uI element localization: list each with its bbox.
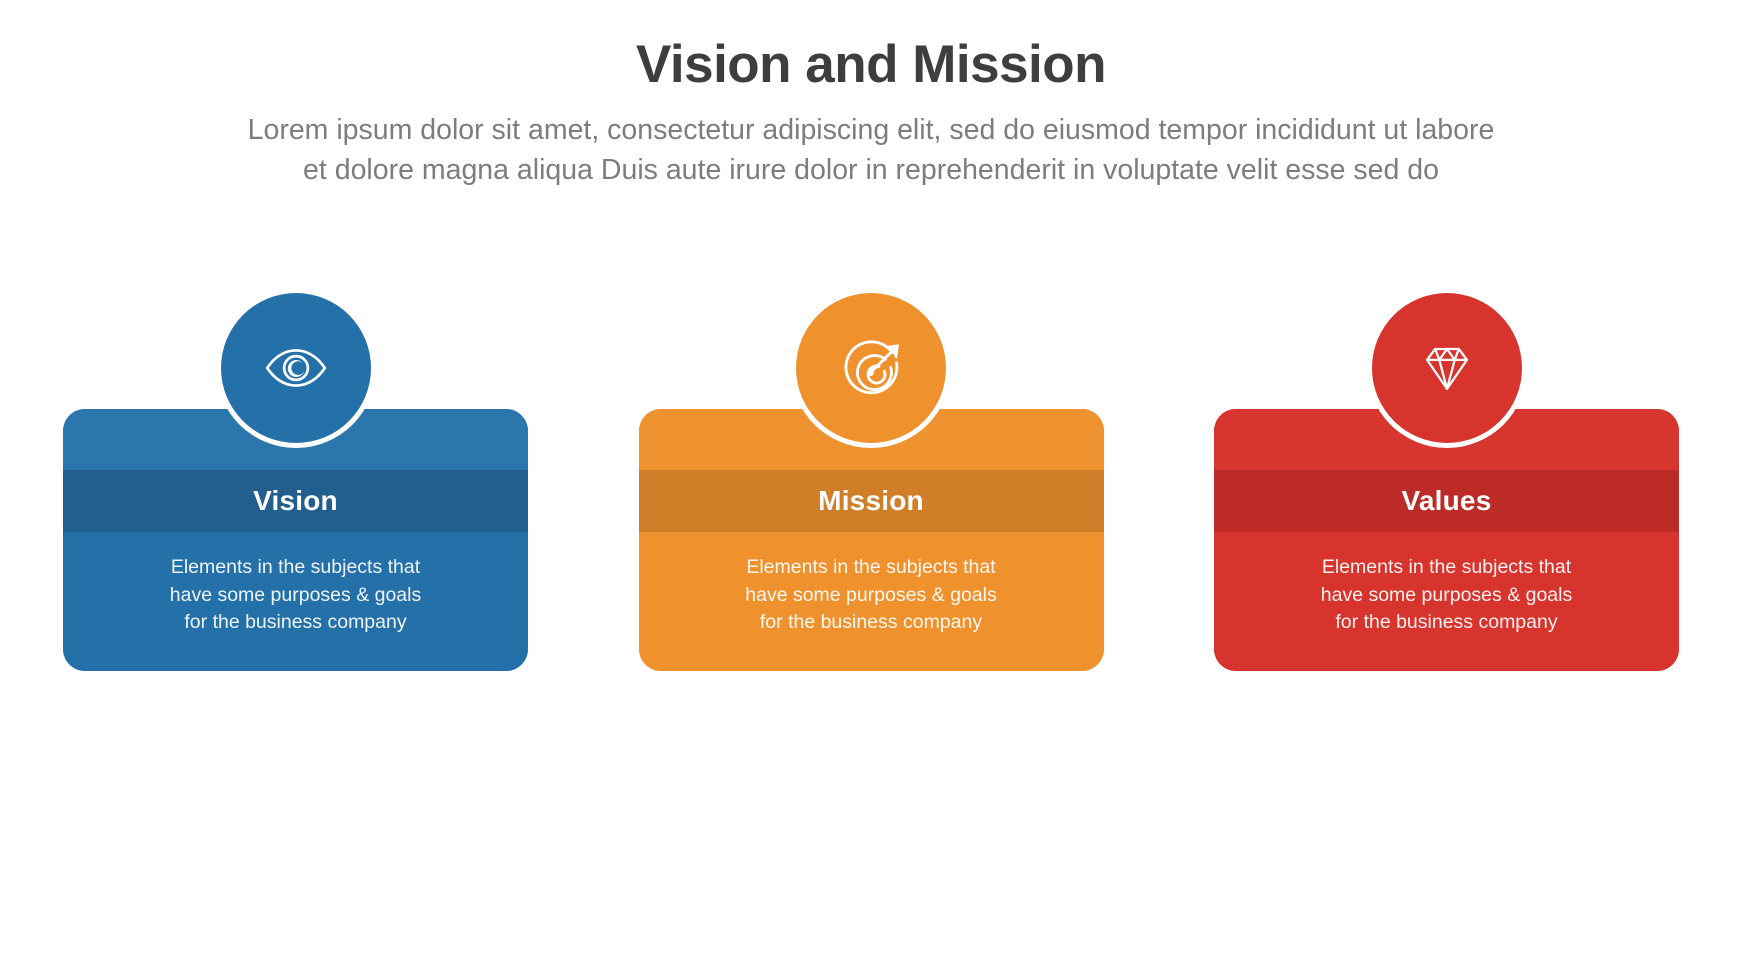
page-title: Vision and Mission: [0, 0, 1742, 94]
card-vision-title-band: Vision: [63, 470, 528, 532]
card-mission-body: Elements in the subjects that have some …: [639, 554, 1104, 637]
card-mission-badge[interactable]: [796, 293, 946, 443]
card-vision-badge[interactable]: [221, 293, 371, 443]
card-vision-body-line-3: for the business company: [89, 609, 502, 637]
card-values-body-line-1: Elements in the subjects that: [1240, 554, 1653, 582]
card-vision-body-line-1: Elements in the subjects that: [89, 554, 502, 582]
card-values-badge[interactable]: [1372, 293, 1522, 443]
page-subtitle: Lorem ipsum dolor sit amet, consectetur …: [91, 94, 1651, 190]
cards-row: Vision Elements in the subjects that hav…: [63, 409, 1679, 671]
card-vision-title: Vision: [253, 487, 338, 515]
card-mission-body-line-3: for the business company: [665, 609, 1078, 637]
card-mission[interactable]: Mission Elements in the subjects that ha…: [639, 409, 1104, 671]
card-values-body-line-2: have some purposes & goals: [1240, 582, 1653, 610]
card-values[interactable]: Values Elements in the subjects that hav…: [1214, 409, 1679, 671]
page-subtitle-line-1: Lorem ipsum dolor sit amet, consectetur …: [91, 111, 1651, 150]
card-values-body: Elements in the subjects that have some …: [1214, 554, 1679, 637]
eye-icon: [263, 335, 329, 401]
card-values-body-line-3: for the business company: [1240, 609, 1653, 637]
card-values-title: Values: [1402, 487, 1492, 515]
card-mission-body-line-1: Elements in the subjects that: [665, 554, 1078, 582]
card-mission-body-line-2: have some purposes & goals: [665, 582, 1078, 610]
page-subtitle-line-2: et dolore magna aliqua Duis aute irure d…: [91, 151, 1651, 190]
card-vision[interactable]: Vision Elements in the subjects that hav…: [63, 409, 528, 671]
card-values-title-band: Values: [1214, 470, 1679, 532]
header: Vision and Mission Lorem ipsum dolor sit…: [0, 0, 1742, 190]
card-mission-title-band: Mission: [639, 470, 1104, 532]
card-vision-body: Elements in the subjects that have some …: [63, 554, 528, 637]
target-arrow-icon: [837, 334, 905, 402]
card-vision-body-line-2: have some purposes & goals: [89, 582, 502, 610]
card-mission-title: Mission: [818, 487, 924, 515]
diamond-icon: [1418, 339, 1476, 397]
